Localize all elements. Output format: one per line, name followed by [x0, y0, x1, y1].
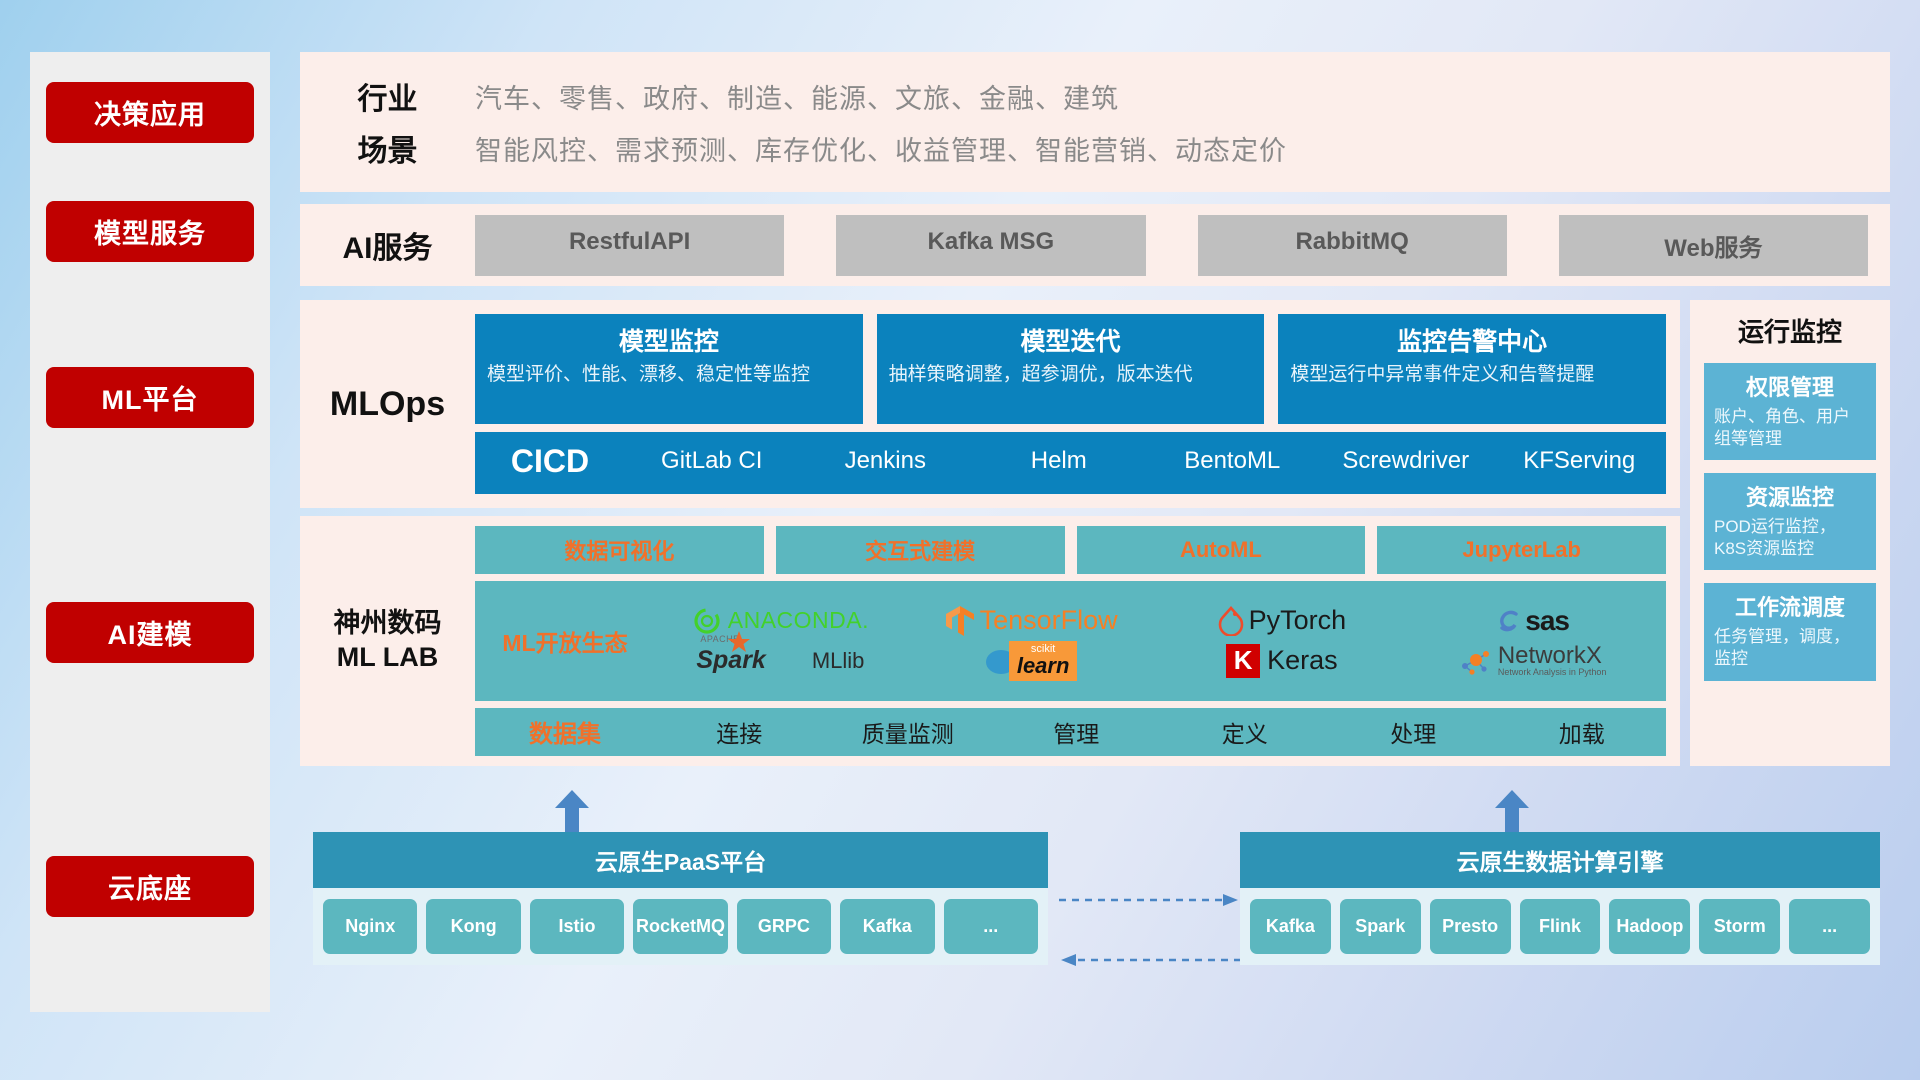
sas-logo-icon: [1496, 608, 1522, 634]
networkx-wordmark: NetworkX: [1498, 644, 1607, 668]
arrow-left-icon: [1061, 954, 1076, 966]
cloud-native-data-engine-title: 云原生数据计算引擎: [1240, 832, 1880, 888]
lab-tool-interactive-modeling[interactable]: 交互式建模: [776, 526, 1065, 574]
ai-chip-rabbitmq[interactable]: RabbitMQ: [1198, 215, 1507, 276]
arrow-up-data-engine: [1495, 790, 1529, 836]
tensorflow-logo-icon: [945, 604, 975, 638]
mlops-body: 模型监控 模型评价、性能、漂移、稳定性等监控 模型迭代 抽样策略调整，超参调优，…: [475, 300, 1680, 508]
networkx-wordblock: NetworkX Network Analysis in Python: [1498, 644, 1607, 677]
keras-logo-icon: K: [1226, 644, 1260, 678]
ecosystem-logo-grid: ANACONDA. TensorFlow: [655, 601, 1666, 681]
data-chip-flink[interactable]: Flink: [1520, 899, 1601, 954]
ml-lab-label-line2: ML LAB: [337, 641, 439, 675]
ml-lab-tool-list: 数据可视化 交互式建模 AutoML JupyterLab: [475, 526, 1666, 574]
scenario-row: 场景 智能风控、需求预测、库存优化、收益管理、智能营销、动态定价: [300, 122, 1890, 174]
cloud-native-data-engine-chips: Kafka Spark Presto Flink Hadoop Storm ..…: [1240, 888, 1880, 965]
mon-card-title: 工作流调度: [1714, 590, 1866, 622]
ai-service-band: AI服务 RestfulAPI Kafka MSG RabbitMQ Web服务: [300, 204, 1890, 286]
cicd-item-screwdriver[interactable]: Screwdriver: [1319, 432, 1493, 475]
lab-tool-automl[interactable]: AutoML: [1077, 526, 1366, 574]
rail-slot-3: ML平台: [30, 290, 270, 505]
ml-open-ecosystem: ML开放生态 ANACONDA.: [475, 581, 1666, 700]
ml-lab-band: 神州数码 ML LAB 数据可视化 交互式建模 AutoML JupyterLa…: [300, 516, 1680, 766]
logo-keras: K Keras: [1226, 644, 1338, 678]
dataset-item-definition[interactable]: 定义: [1161, 715, 1330, 749]
rail-chip-cloud-base[interactable]: 云底座: [46, 856, 254, 917]
cicd-bar: CICD GitLab CI Jenkins Helm BentoML Scre…: [475, 432, 1666, 494]
logo-pytorch: PyTorch: [1218, 605, 1347, 636]
anaconda-logo-icon: [692, 606, 722, 636]
pytorch-wordmark: PyTorch: [1249, 605, 1347, 636]
mon-card-desc: 任务管理，调度，监控: [1714, 626, 1866, 670]
cloud-chip-istio[interactable]: Istio: [530, 899, 624, 954]
dataset-item-processing[interactable]: 处理: [1329, 715, 1498, 749]
spark-star-icon: [726, 630, 752, 654]
cloud-native-paas-chips: Nginx Kong Istio RocketMQ GRPC Kafka ...: [313, 888, 1048, 965]
cicd-item-jenkins[interactable]: Jenkins: [799, 432, 973, 475]
mlops-card-title: 监控告警中心: [1290, 322, 1654, 358]
rail-slot-4: AI建模: [30, 505, 270, 760]
runtime-monitoring-panel: 运行监控 权限管理 账户、角色、用户组等管理 资源监控 POD运行监控，K8S资…: [1690, 300, 1890, 766]
mlops-card-model-monitoring[interactable]: 模型监控 模型评价、性能、漂移、稳定性等监控: [475, 314, 863, 424]
ai-chip-kafka-msg[interactable]: Kafka MSG: [836, 215, 1145, 276]
data-chip-more[interactable]: ...: [1789, 899, 1870, 954]
cicd-item-bentoml[interactable]: BentoML: [1146, 432, 1320, 475]
mlops-card-desc: 模型评价、性能、漂移、稳定性等监控: [487, 363, 851, 388]
layer-rail: 决策应用 模型服务 ML平台 AI建模 云底座: [30, 52, 270, 1012]
cloud-chip-rocketmq[interactable]: RocketMQ: [633, 899, 727, 954]
ml-lab-label: 神州数码 ML LAB: [300, 516, 475, 766]
dataset-item-loading[interactable]: 加载: [1498, 715, 1667, 749]
scenario-values: 智能风控、需求预测、库存优化、收益管理、智能营销、动态定价: [475, 129, 1287, 168]
data-chip-kafka[interactable]: Kafka: [1250, 899, 1331, 954]
mon-card-resource-monitoring[interactable]: 资源监控 POD运行监控，K8S资源监控: [1704, 473, 1876, 570]
scikit-learn-badge: scikit learn: [1009, 641, 1078, 681]
ml-open-ecosystem-label: ML开放生态: [475, 624, 655, 658]
ml-lab-body: 数据可视化 交互式建模 AutoML JupyterLab ML开放生态 ANA…: [475, 516, 1680, 766]
logo-sas: sas: [1496, 605, 1569, 637]
cloud-chip-nginx[interactable]: Nginx: [323, 899, 417, 954]
dataset-item-management[interactable]: 管理: [992, 715, 1161, 749]
lab-tool-jupyterlab[interactable]: JupyterLab: [1377, 526, 1666, 574]
learn-word: learn: [1017, 655, 1070, 677]
industry-scenario-band: 行业 汽车、零售、政府、制造、能源、文旅、金融、建筑 场景 智能风控、需求预测、…: [300, 52, 1890, 192]
cloud-chip-kafka[interactable]: Kafka: [840, 899, 934, 954]
ai-chip-web-service[interactable]: Web服务: [1559, 215, 1868, 276]
networkx-logo-icon: [1459, 646, 1493, 676]
logo-networkx: NetworkX Network Analysis in Python: [1459, 644, 1607, 677]
spark-mark: APACHE Spark: [696, 646, 765, 675]
pytorch-logo-icon: [1218, 606, 1244, 636]
dataset-item-quality-monitoring[interactable]: 质量监测: [824, 715, 993, 749]
mlops-band: MLOps 模型监控 模型评价、性能、漂移、稳定性等监控 模型迭代 抽样策略调整…: [300, 300, 1680, 508]
industry-row: 行业 汽车、零售、政府、制造、能源、文旅、金融、建筑: [300, 70, 1890, 122]
lab-tool-data-visualization[interactable]: 数据可视化: [475, 526, 764, 574]
ai-service-chip-list: RestfulAPI Kafka MSG RabbitMQ Web服务: [475, 215, 1890, 276]
industry-label: 行业: [300, 74, 475, 118]
mlops-card-title: 模型迭代: [889, 322, 1253, 358]
rail-chip-ai-modeling[interactable]: AI建模: [46, 602, 254, 663]
arrow-up-icon: [555, 790, 589, 836]
data-chip-presto[interactable]: Presto: [1430, 899, 1511, 954]
logo-spark-mllib: APACHE Spark MLlib: [696, 646, 864, 675]
mon-card-desc: POD运行监控，K8S资源监控: [1714, 516, 1866, 560]
rail-slot-1: 决策应用: [30, 52, 270, 172]
ml-lab-label-line1: 神州数码: [334, 607, 442, 641]
logo-tensorflow: TensorFlow: [945, 604, 1118, 638]
rail-chip-ml-platform[interactable]: ML平台: [46, 367, 254, 428]
industry-values: 汽车、零售、政府、制造、能源、文旅、金融、建筑: [475, 77, 1119, 116]
dataset-bar: 数据集 连接 质量监测 管理 定义 处理 加载: [475, 708, 1666, 756]
mlops-card-list: 模型监控 模型评价、性能、漂移、稳定性等监控 模型迭代 抽样策略调整，超参调优，…: [475, 314, 1666, 424]
mon-card-workflow-scheduling[interactable]: 工作流调度 任务管理，调度，监控: [1704, 583, 1876, 680]
cicd-item-helm[interactable]: Helm: [972, 432, 1146, 475]
rail-slot-2: 模型服务: [30, 172, 270, 290]
mon-card-title: 权限管理: [1714, 370, 1866, 402]
rail-chip-model-service[interactable]: 模型服务: [46, 201, 254, 262]
data-chip-hadoop[interactable]: Hadoop: [1609, 899, 1690, 954]
arrow-up-paas: [555, 790, 589, 836]
mlops-card-model-iteration[interactable]: 模型迭代 抽样策略调整，超参调优，版本迭代: [877, 314, 1265, 424]
mlops-card-alert-center[interactable]: 监控告警中心 模型运行中异常事件定义和告警提醒: [1278, 314, 1666, 424]
cloud-native-data-engine-group: 云原生数据计算引擎 Kafka Spark Presto Flink Hadoo…: [1240, 832, 1880, 965]
arrow-right-icon: [1223, 894, 1238, 906]
cicd-label: CICD: [475, 432, 625, 480]
dataset-item-connect[interactable]: 连接: [655, 715, 824, 749]
cicd-item-gitlab-ci[interactable]: GitLab CI: [625, 432, 799, 475]
ai-chip-restfulapi[interactable]: RestfulAPI: [475, 215, 784, 276]
rail-chip-decision-app[interactable]: 决策应用: [46, 82, 254, 143]
logo-anaconda: ANACONDA.: [692, 606, 869, 636]
networkx-tagline: Network Analysis in Python: [1498, 668, 1607, 677]
keras-wordmark: Keras: [1267, 645, 1338, 676]
mon-card-desc: 账户、角色、用户组等管理: [1714, 406, 1866, 450]
dataset-label: 数据集: [475, 714, 655, 749]
bidirectional-connector: [1055, 870, 1245, 990]
cloud-foundation-layer: 云原生PaaS平台 Nginx Kong Istio RocketMQ GRPC…: [300, 790, 1890, 1020]
cloud-native-paas-group: 云原生PaaS平台 Nginx Kong Istio RocketMQ GRPC…: [313, 832, 1048, 965]
data-chip-storm[interactable]: Storm: [1699, 899, 1780, 954]
mllib-wordmark: MLlib: [812, 648, 865, 674]
mlops-card-desc: 模型运行中异常事件定义和告警提醒: [1290, 363, 1654, 388]
cloud-chip-grpc[interactable]: GRPC: [737, 899, 831, 954]
arrow-up-icon: [1495, 790, 1529, 836]
mlops-label: MLOps: [300, 300, 475, 508]
ai-service-label: AI服务: [300, 223, 475, 267]
rail-slot-5: 云底座: [30, 760, 270, 1012]
mlops-card-title: 模型监控: [487, 322, 851, 358]
scenario-label: 场景: [300, 126, 475, 170]
mlops-card-desc: 抽样策略调整，超参调优，版本迭代: [889, 363, 1253, 388]
data-chip-spark[interactable]: Spark: [1340, 899, 1421, 954]
logo-scikit-learn: scikit learn: [985, 641, 1078, 681]
mon-card-title: 资源监控: [1714, 480, 1866, 512]
cloud-native-paas-title: 云原生PaaS平台: [313, 832, 1048, 888]
sas-wordmark: sas: [1525, 605, 1569, 637]
tensorflow-wordmark: TensorFlow: [980, 605, 1118, 636]
cloud-chip-more[interactable]: ...: [944, 899, 1038, 954]
cloud-chip-kong[interactable]: Kong: [426, 899, 520, 954]
cicd-item-kfserving[interactable]: KFServing: [1493, 432, 1667, 475]
runtime-monitoring-title: 运行监控: [1704, 312, 1876, 349]
mon-card-permission-management[interactable]: 权限管理 账户、角色、用户组等管理: [1704, 363, 1876, 460]
